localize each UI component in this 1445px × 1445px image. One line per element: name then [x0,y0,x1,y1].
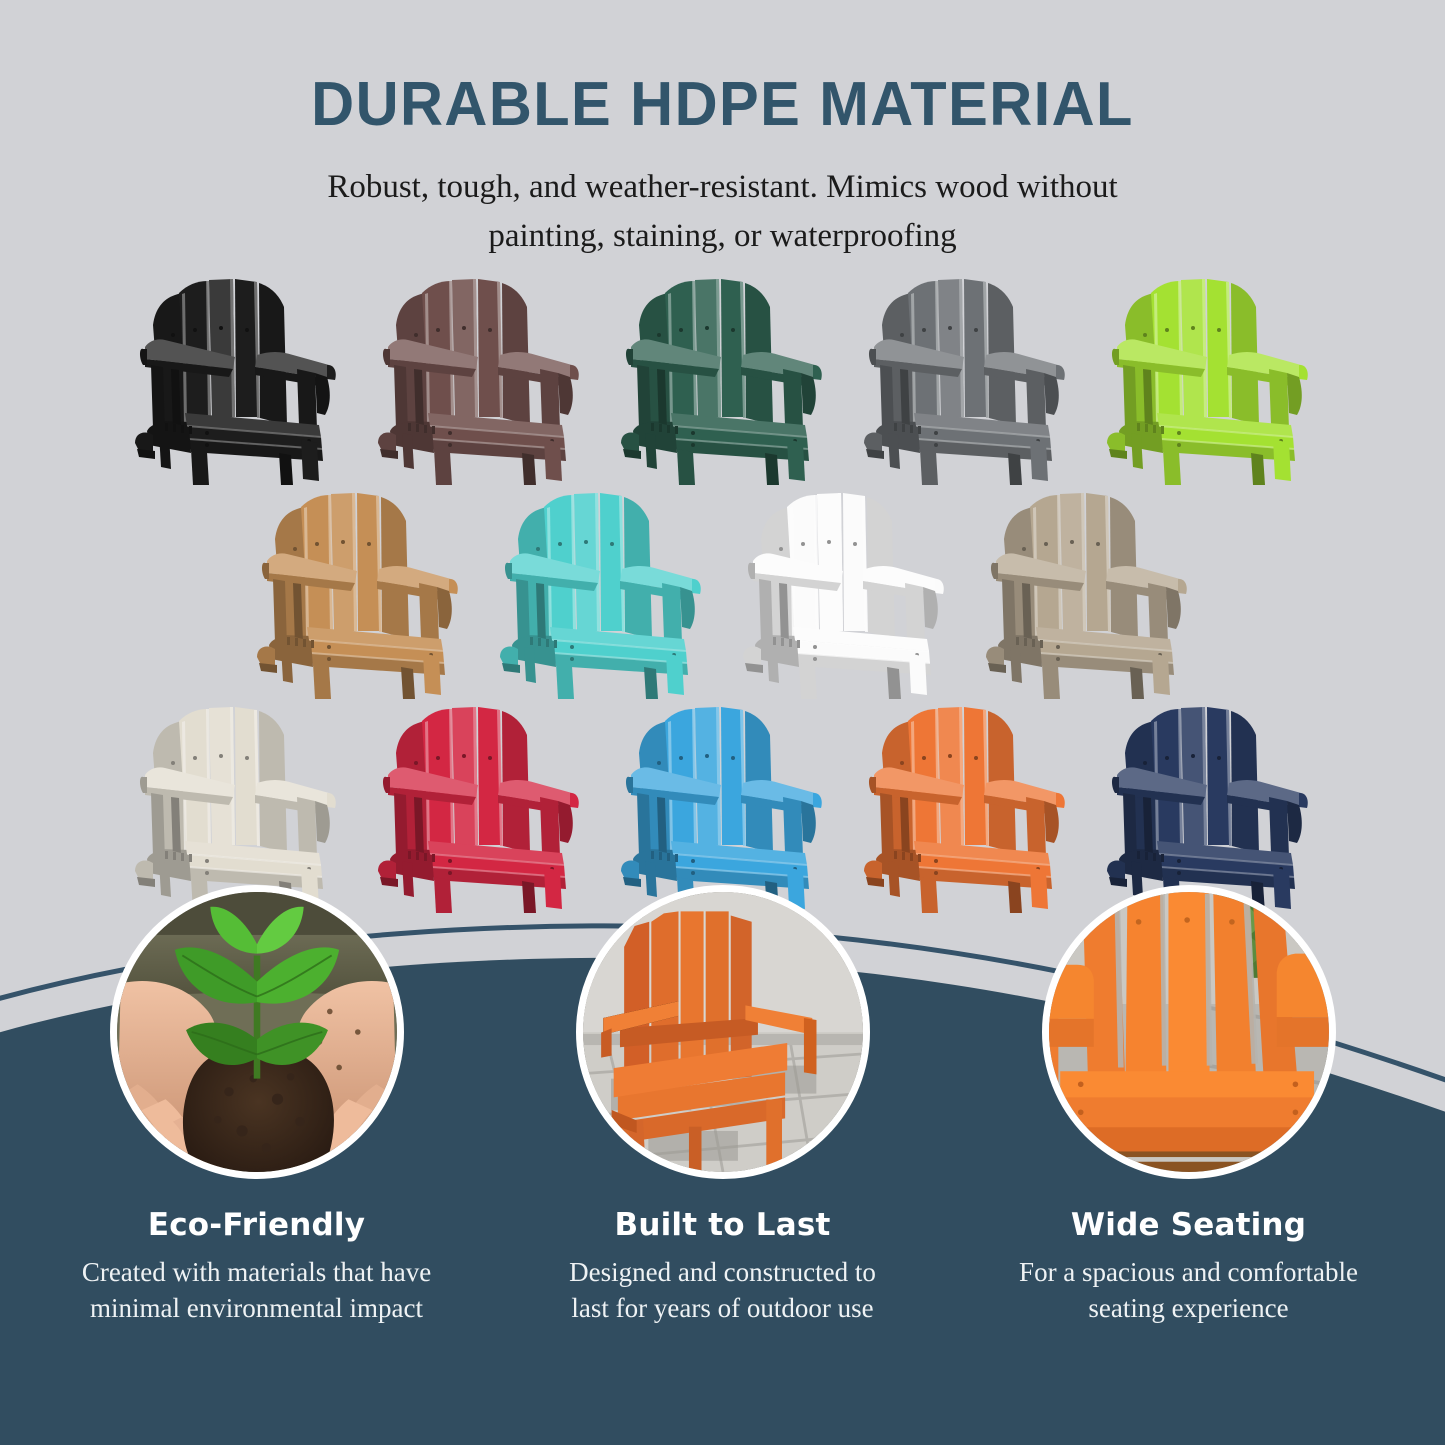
chair-swatch-teak[interactable] [237,482,480,707]
orange-adirondack-chair-on-patio-photo [583,892,863,1172]
feature-title-wide-seating: Wide Seating [1071,1207,1306,1243]
chair-right-arm-post [1026,797,1059,857]
feature-built-to-last: Built to Last Designed and constructed t… [518,885,928,1385]
chair-right-arm-post [1269,797,1302,857]
feature-image-wide-seating [1042,885,1336,1179]
feature-image-built-to-last [576,885,870,1179]
feature-desc-wide-seating: For a spacious and comfortable seating e… [979,1255,1399,1326]
adirondack-chair-white [737,487,952,702]
chair-swatch-taupe[interactable] [966,482,1209,707]
adirondack-chair-turquoise [494,487,709,702]
adirondack-chair-orange [858,701,1073,916]
adirondack-chair-navy [1101,701,1316,916]
page-subtitle: Robust, tough, and weather-resistant. Mi… [213,163,1233,261]
chair-swatch-turquoise[interactable] [480,482,723,707]
infographic-canvas: DURABLE HDPE MATERIAL Robust, tough, and… [0,0,1445,1445]
chair-right-arm-post [1148,583,1181,643]
chair-right-arm-post [905,583,938,643]
page-title: DURABLE HDPE MATERIAL [29,72,1416,137]
features-row: Eco-Friendly Created with materials that… [0,885,1445,1385]
chair-right-arm-post [783,369,816,429]
chair-right-arm-post [419,583,452,643]
chair-color-grid [0,268,1445,928]
feature-desc-line-2: last for years of outdoor use [513,1291,933,1327]
adirondack-chair-red [372,701,587,916]
feature-desc-line-2: seating experience [979,1291,1399,1327]
feature-desc-line-2: minimal environmental impact [47,1291,467,1327]
chair-right-arm-post [540,797,573,857]
subtitle-line-2: painting, staining, or waterproofing [213,212,1233,261]
adirondack-chair-teak [251,487,466,702]
chair-swatch-dark-green[interactable] [601,268,844,493]
adirondack-chair-gray [858,273,1073,488]
feature-desc-line-1: For a spacious and comfortable [979,1255,1399,1291]
chair-right-arm-post [783,797,816,857]
chair-swatch-brown[interactable] [358,268,601,493]
chair-swatch-gray[interactable] [844,268,1087,493]
chair-row-2 [0,482,1445,707]
feature-desc-eco-friendly: Created with materials that have minimal… [47,1255,467,1326]
feature-desc-line-1: Designed and constructed to [513,1255,933,1291]
chair-right-arm-post [297,797,330,857]
feature-desc-built-to-last: Designed and constructed to last for yea… [513,1255,933,1326]
chair-right-arm-post [1269,369,1302,429]
feature-image-eco-friendly [110,885,404,1179]
adirondack-chair-taupe [980,487,1195,702]
chair-swatch-black[interactable] [115,268,358,493]
header-block: DURABLE HDPE MATERIAL Robust, tough, and… [0,0,1445,261]
subtitle-line-1: Robust, tough, and weather-resistant. Mi… [213,163,1233,212]
adirondack-chair-dark-green [615,273,830,488]
hands-holding-seedling-in-soil-photo [117,892,397,1172]
feature-title-built-to-last: Built to Last [614,1207,830,1243]
chair-swatch-lime-green[interactable] [1087,268,1330,493]
chair-right-arm-post [540,369,573,429]
chair-row-1 [0,268,1445,493]
feature-title-eco-friendly: Eco-Friendly [148,1207,365,1243]
adirondack-chair-sky-blue [615,701,830,916]
chair-swatch-white[interactable] [723,482,966,707]
orange-chair-wide-seat-closeup-photo [1049,892,1329,1172]
adirondack-chair-brown [372,273,587,488]
feature-wide-seating: Wide Seating For a spacious and comforta… [984,885,1394,1385]
chair-right-arm-post [297,369,330,429]
adirondack-chair-ivory [129,701,344,916]
chair-right-arm-post [1026,369,1059,429]
feature-eco-friendly: Eco-Friendly Created with materials that… [52,885,462,1385]
feature-desc-line-1: Created with materials that have [47,1255,467,1291]
chair-right-arm-post [662,583,695,643]
adirondack-chair-lime-green [1101,273,1316,488]
adirondack-chair-black [129,273,344,488]
